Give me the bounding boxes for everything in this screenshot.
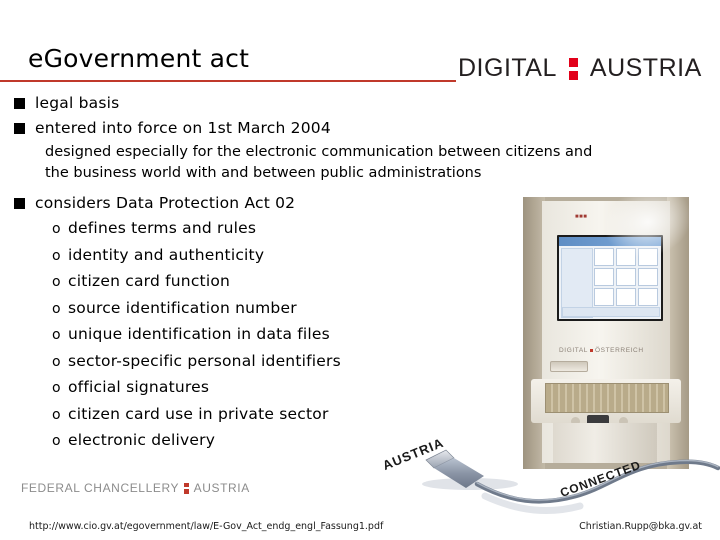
- bullet-label: entered into force on 1st March 2004: [35, 117, 331, 140]
- title-divider: [0, 80, 456, 82]
- chancellery-word-right: AUSTRIA: [194, 482, 250, 494]
- source-url[interactable]: http://www.cio.gv.at/egovernment/law/E-G…: [29, 521, 383, 532]
- circle-bullet-icon: o: [52, 274, 68, 290]
- kiosk-terminal-photo: ■■■ DIGITALÖSTERREICH: [523, 197, 689, 469]
- circle-bullet-icon: o: [52, 407, 68, 423]
- two-red-squares-icon: [184, 483, 189, 494]
- sub-bullet-label: electronic delivery: [68, 431, 215, 449]
- sub-bullet-label: citizen card use in private sector: [68, 405, 329, 423]
- bullet-item: entered into force on 1st March 2004: [14, 117, 704, 140]
- federal-chancellery-logo: FEDERAL CHANCELLERY AUSTRIA: [21, 482, 250, 494]
- brand-word-digital: DIGITAL: [458, 56, 557, 81]
- sub-bullet-label: official signatures: [68, 378, 209, 396]
- sub-bullet-label: unique identification in data files: [68, 325, 330, 343]
- sub-bullet-label: citizen card function: [68, 272, 230, 290]
- circle-bullet-icon: o: [52, 380, 68, 396]
- sub-bullet-label: source identification number: [68, 299, 297, 317]
- bullet-continuation-line: designed especially for the electronic c…: [45, 142, 704, 163]
- square-bullet-icon: [14, 198, 25, 209]
- contact-email[interactable]: Christian.Rupp@bka.gv.at: [579, 521, 702, 532]
- chancellery-word-left: FEDERAL CHANCELLERY: [21, 482, 179, 494]
- bullet-item: legal basis: [14, 92, 704, 115]
- circle-bullet-icon: o: [52, 354, 68, 370]
- circle-bullet-icon: o: [52, 248, 68, 264]
- bullet-continuation-line: the business world with and between publ…: [45, 163, 704, 184]
- page-title: eGovernment act: [28, 44, 249, 73]
- kiosk-base: [553, 423, 657, 463]
- kiosk-screen-footer: [562, 307, 660, 317]
- kiosk-cabinet-logo: DIGITALÖSTERREICH: [559, 347, 644, 354]
- circle-bullet-icon: o: [52, 221, 68, 237]
- square-bullet-icon: [14, 123, 25, 134]
- square-bullet-icon: [14, 98, 25, 109]
- sub-bullet-label: sector-specific personal identifiers: [68, 352, 341, 370]
- sub-bullet-label: defines terms and rules: [68, 219, 256, 237]
- card-reader-slot: [550, 361, 588, 372]
- sub-bullet-label: identity and authenticity: [68, 246, 264, 264]
- circle-bullet-icon: o: [52, 301, 68, 317]
- digital-austria-logo: DIGITAL AUSTRIA: [458, 56, 702, 81]
- circle-bullet-icon: o: [52, 327, 68, 343]
- kiosk-keyboard: [545, 383, 669, 413]
- two-red-squares-icon: [569, 58, 578, 80]
- circle-bullet-icon: o: [52, 433, 68, 449]
- presentation-slide: eGovernment act DIGITAL AUSTRIA legal ba…: [0, 0, 720, 540]
- bullet-label: legal basis: [35, 92, 119, 115]
- bullet-label: considers Data Protection Act 02: [35, 192, 295, 215]
- brand-word-austria: AUSTRIA: [590, 56, 702, 81]
- kiosk-top-logo: ■■■: [575, 214, 587, 220]
